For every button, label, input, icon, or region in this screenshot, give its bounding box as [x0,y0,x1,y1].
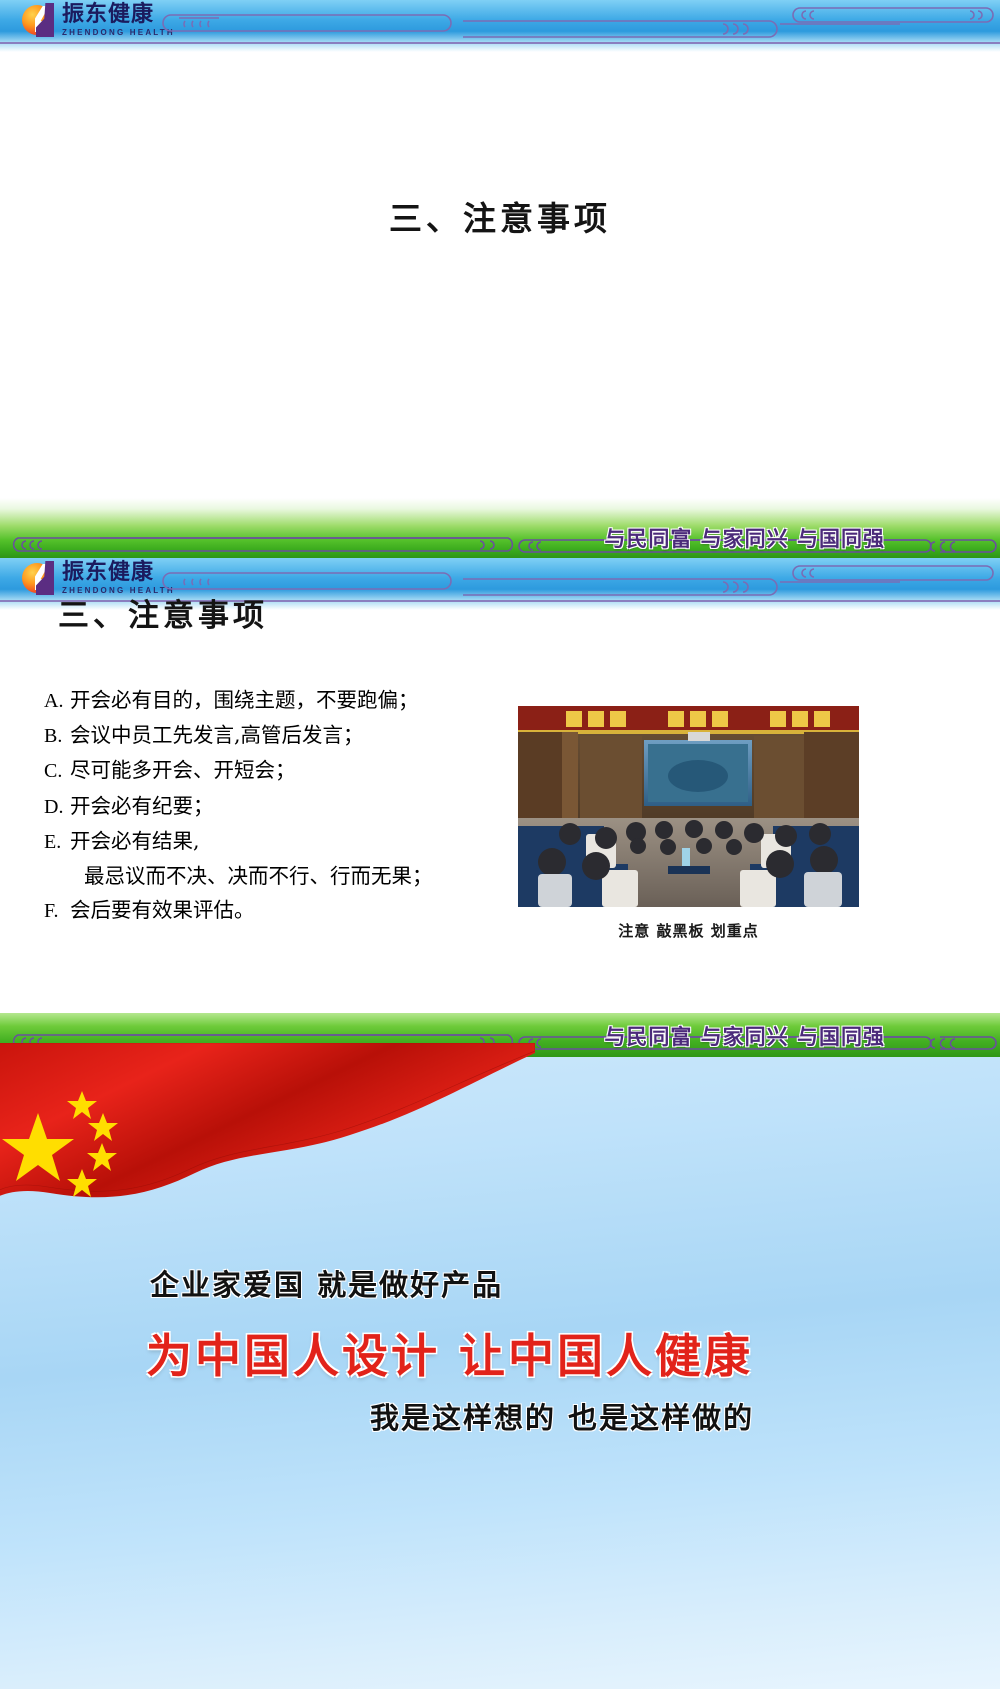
header-decoration-mid [455,576,785,596]
list-item-continuation: 最忌议而不决、决而不行、行而无果； [44,859,514,893]
list-item-marker: C. [44,755,70,788]
header-decoration-left [155,570,455,590]
photo-caption: 注意 敲黑板 划重点 [518,920,859,941]
list-item-text: 开会必有目的，围绕主题，不要跑偏； [70,683,419,717]
list-item: B. 会议中员工先发言,高管后发言； [44,718,514,753]
list-item: F. 会后要有效果评估。 [44,893,514,928]
list-item: E. 开会必有结果, [44,824,514,859]
list-item-text: 尽可能多开会、开短会； [70,753,296,787]
list-item-text: 会议中员工先发言,高管后发言； [70,718,364,752]
list-item-text: 会后要有效果评估。 [70,893,255,927]
slide-1-title: 三、注意事项 [0,192,1000,240]
china-national-flag [0,1043,535,1223]
list-item-marker: B. [44,720,70,753]
list-item-marker: D. [44,791,70,824]
list-item-marker: E. [44,826,70,859]
slide-2-title: 三、注意事项 [58,590,268,635]
zhendong-logo-icon [22,3,56,37]
presentation-page: 振东健康 ZHENDONG HEALTH [0,0,1000,1689]
header-decoration-left [155,12,455,32]
notes-list: A. 开会必有目的，围绕主题，不要跑偏； B. 会议中员工先发言,高管后发言； … [44,683,514,928]
brand-logo: 振东健康 ZHENDONG HEALTH [22,3,175,37]
header-decoration-right [780,562,1000,582]
list-item-marker: A. [44,685,70,718]
slide-1: 振东健康 ZHENDONG HEALTH [0,0,1000,558]
meeting-room-photo [518,706,859,907]
list-item-text: 开会必有纪要； [70,789,214,823]
slide-3: 与民同富 与家同兴 与国同强 [0,1013,1000,1689]
list-item-marker: F. [44,895,70,928]
slide-1-green-banner: 与民同富 与家同兴 与国同强 [0,498,1000,558]
zhendong-logo-icon [22,561,56,595]
header-decoration-mid [455,18,785,38]
list-item: A. 开会必有目的，围绕主题，不要跑偏； [44,683,514,718]
header-decoration-right [780,4,1000,24]
list-item-text: 开会必有结果, [70,824,200,858]
header-divider [0,42,1000,44]
slide-2: 振东健康 ZHENDONG HEALTH [0,558,1000,1013]
list-item: D. 开会必有纪要； [44,789,514,824]
list-item: C. 尽可能多开会、开短会； [44,753,514,788]
green-banner-slogan: 与民同富 与家同兴 与国同强 [604,1021,885,1051]
green-banner-slogan: 与民同富 与家同兴 与国同强 [604,523,885,553]
slide-1-header: 振东健康 ZHENDONG HEALTH [0,0,1000,52]
